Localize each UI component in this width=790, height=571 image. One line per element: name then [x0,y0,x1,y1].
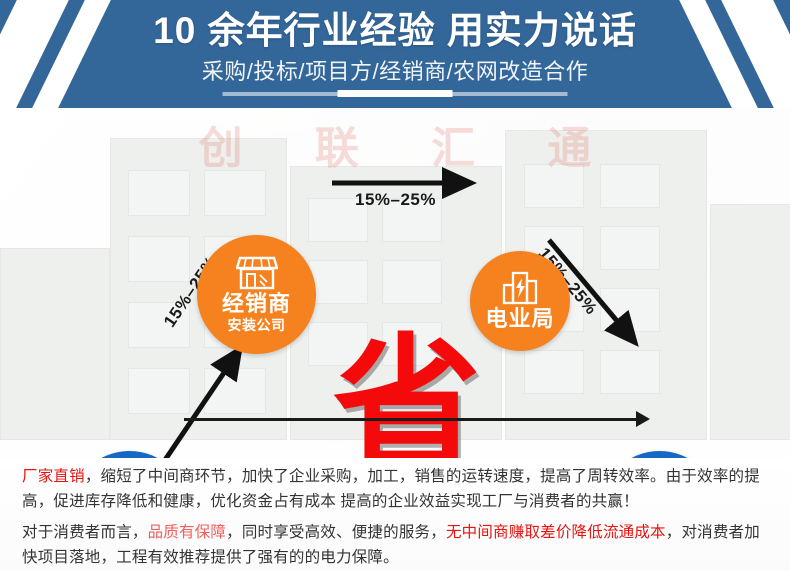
footer-paragraph-2: 对于消费者而言，品质有保障，同时享受高效、便捷的服务，无中间商赚取差价降低流通成… [22,520,774,570]
power-building-icon [501,271,539,305]
node-bureau-label: 电业局 [485,307,554,331]
header-rule-highlight [338,90,453,97]
node-bureau[interactable]: 电业局 [470,251,570,351]
diagram-stage: 创 联 汇 通 15%–25% 15%–25% 15%–25% 省 在这里省了 [0,108,790,458]
header-title: 10 余年行业经验 用实力说话 [0,8,790,54]
footer-p2-seg-2: ，同时享受高效、便捷的服务， [226,524,446,541]
node-dealer-sublabel: 安装公司 [228,317,286,334]
page-root: 10 余年行业经验 用实力说话 采购/投标/项目方/经销商/农网改造合作 [0,0,790,571]
arrow-factory-to-dealer [165,352,238,458]
baseline-arrowhead [636,411,650,427]
footer-paragraph-1: 厂家直销，缩短了中间商环节，加快了企业采购，加工，销售的运转速度，提高了周转效率… [22,464,774,514]
shop-icon [236,256,278,290]
page-header: 10 余年行业经验 用实力说话 采购/投标/项目方/经销商/农网改造合作 [0,0,790,108]
footer-section: 厂家直销，缩短了中间商环节，加快了企业采购，加工，销售的运转速度，提高了周转效率… [0,458,790,571]
footer-p1-seg-0: 厂家直销 [22,468,85,485]
footer-p2-seg-1: 品质有保障 [148,524,227,541]
header-subtitle: 采购/投标/项目方/经销商/农网改造合作 [0,58,790,86]
footer-p1-seg-1: ，缩短了中间商环节，加快了企业采购，加工，销售的运转速度，提高了周转效率。由于效… [22,468,760,510]
node-dealer-label: 经销商 [222,292,291,316]
big-save-character: 省 [322,333,492,458]
node-dealer[interactable]: 经销商 安装公司 [197,235,316,354]
baseline-rule [184,418,639,421]
footer-p2-seg-0: 对于消费者而言， [22,524,148,541]
arrow-label-dealer-to-bureau: 15%–25% [355,190,436,210]
footer-p2-seg-3: 无中间商赚取差价降低流通成本 [446,524,666,541]
